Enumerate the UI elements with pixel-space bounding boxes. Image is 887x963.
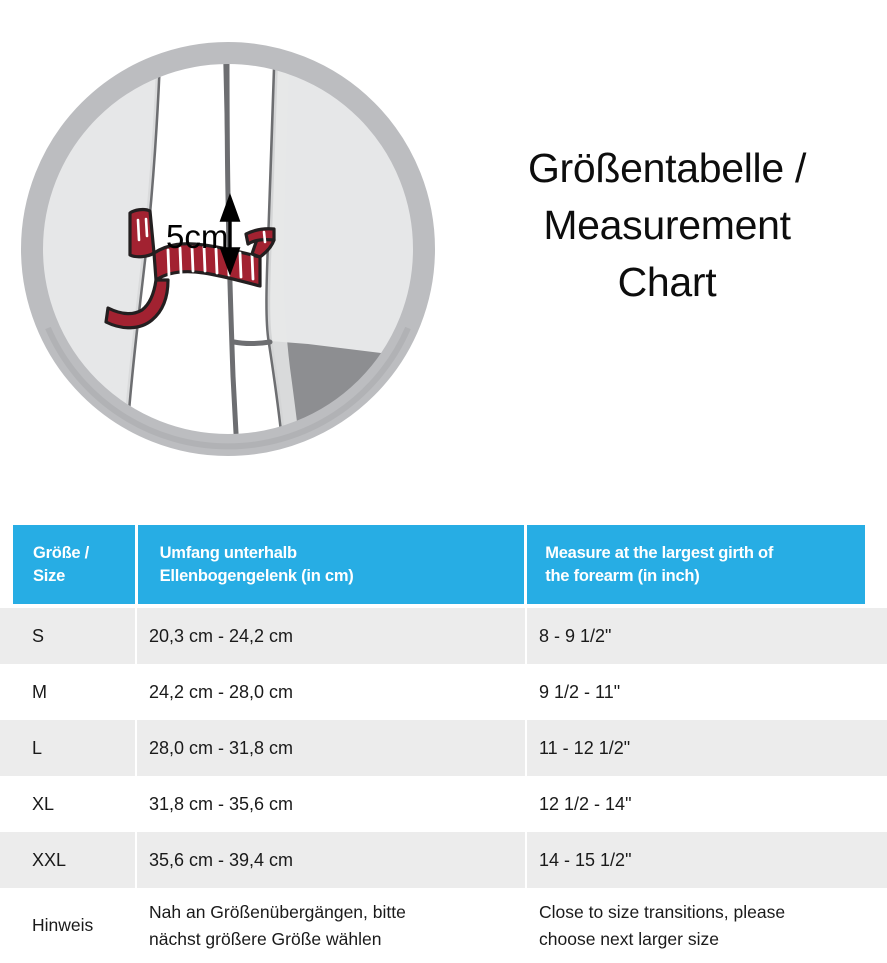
tape-right-ticks (264, 232, 265, 242)
column-header-size-line-1: Größe / (33, 542, 121, 565)
cell-inch: 14 - 15 1/2" (527, 832, 887, 888)
title-line-3: Chart (452, 254, 882, 311)
cell-note-cm-line-1: Nah an Größenübergängen, bitte (149, 899, 525, 926)
table-row: L 28,0 cm - 31,8 cm 11 - 12 1/2" (0, 720, 887, 776)
column-header-size-line-2: Size (33, 565, 121, 588)
cell-cm: 31,8 cm - 35,6 cm (137, 776, 525, 832)
cell-inch: 8 - 9 1/2" (527, 608, 887, 664)
cell-cm: 20,3 cm - 24,2 cm (137, 608, 525, 664)
column-header-size: Größe / Size (13, 525, 135, 604)
cell-size: M (0, 664, 135, 720)
cell-cm: 35,6 cm - 39,4 cm (137, 832, 525, 888)
column-header-cm-line-2: Ellenbogengelenk (in cm) (160, 565, 511, 588)
cell-note-cm-line-2: nächst größere Größe wählen (149, 926, 525, 953)
cell-size: L (0, 720, 135, 776)
table-row-note: Hinweis Nah an Größenübergängen, bitte n… (0, 888, 887, 963)
table-row: M 24,2 cm - 28,0 cm 9 1/2 - 11" (0, 664, 887, 720)
column-header-inch: Measure at the largest girth of the fore… (527, 525, 865, 604)
cell-note-inch: Close to size transitions, please choose… (527, 888, 887, 963)
cell-cm: 24,2 cm - 28,0 cm (137, 664, 525, 720)
measurement-label: 5cm (166, 218, 228, 255)
cell-note-cm: Nah an Größenübergängen, bitte nächst gr… (137, 888, 525, 963)
column-header-inch-line-1: Measure at the largest girth of (545, 542, 851, 565)
table-row: S 20,3 cm - 24,2 cm 8 - 9 1/2" (0, 608, 887, 664)
cell-inch: 9 1/2 - 11" (527, 664, 887, 720)
cell-inch: 12 1/2 - 14" (527, 776, 887, 832)
size-chart-table: Größe / Size Umfang unterhalb Ellenbogen… (0, 515, 887, 960)
elbow-crease (234, 342, 270, 344)
cell-note-inch-line-1: Close to size transitions, please (539, 899, 887, 926)
cell-size: XL (0, 776, 135, 832)
title-line-2: Measurement (452, 197, 882, 254)
cell-size: S (0, 608, 135, 664)
table-row: XXL 35,6 cm - 39,4 cm 14 - 15 1/2" (0, 832, 887, 888)
cell-cm: 28,0 cm - 31,8 cm (137, 720, 525, 776)
cell-inch: 11 - 12 1/2" (527, 720, 887, 776)
cell-note-inch-line-2: choose next larger size (539, 926, 887, 953)
table-row: XL 31,8 cm - 35,6 cm 12 1/2 - 14" (0, 776, 887, 832)
column-header-cm-line-1: Umfang unterhalb (160, 542, 511, 565)
title-line-1: Größentabelle / (452, 140, 882, 197)
page-title: Größentabelle / Measurement Chart (452, 140, 882, 311)
tape-back-flap (130, 210, 154, 257)
table-body: S 20,3 cm - 24,2 cm 8 - 9 1/2" M 24,2 cm… (0, 608, 887, 963)
elbow-measurement-illustration: 5cm (8, 8, 448, 490)
header-section: 5cm Größentabelle / Measurement Chart (0, 0, 887, 515)
table-header-row: Größe / Size Umfang unterhalb Ellenbogen… (13, 525, 865, 604)
column-header-inch-line-2: the forearm (in inch) (545, 565, 851, 588)
cell-size: XXL (0, 832, 135, 888)
column-header-cm: Umfang unterhalb Ellenbogengelenk (in cm… (138, 525, 525, 604)
cell-note-label: Hinweis (0, 888, 135, 963)
